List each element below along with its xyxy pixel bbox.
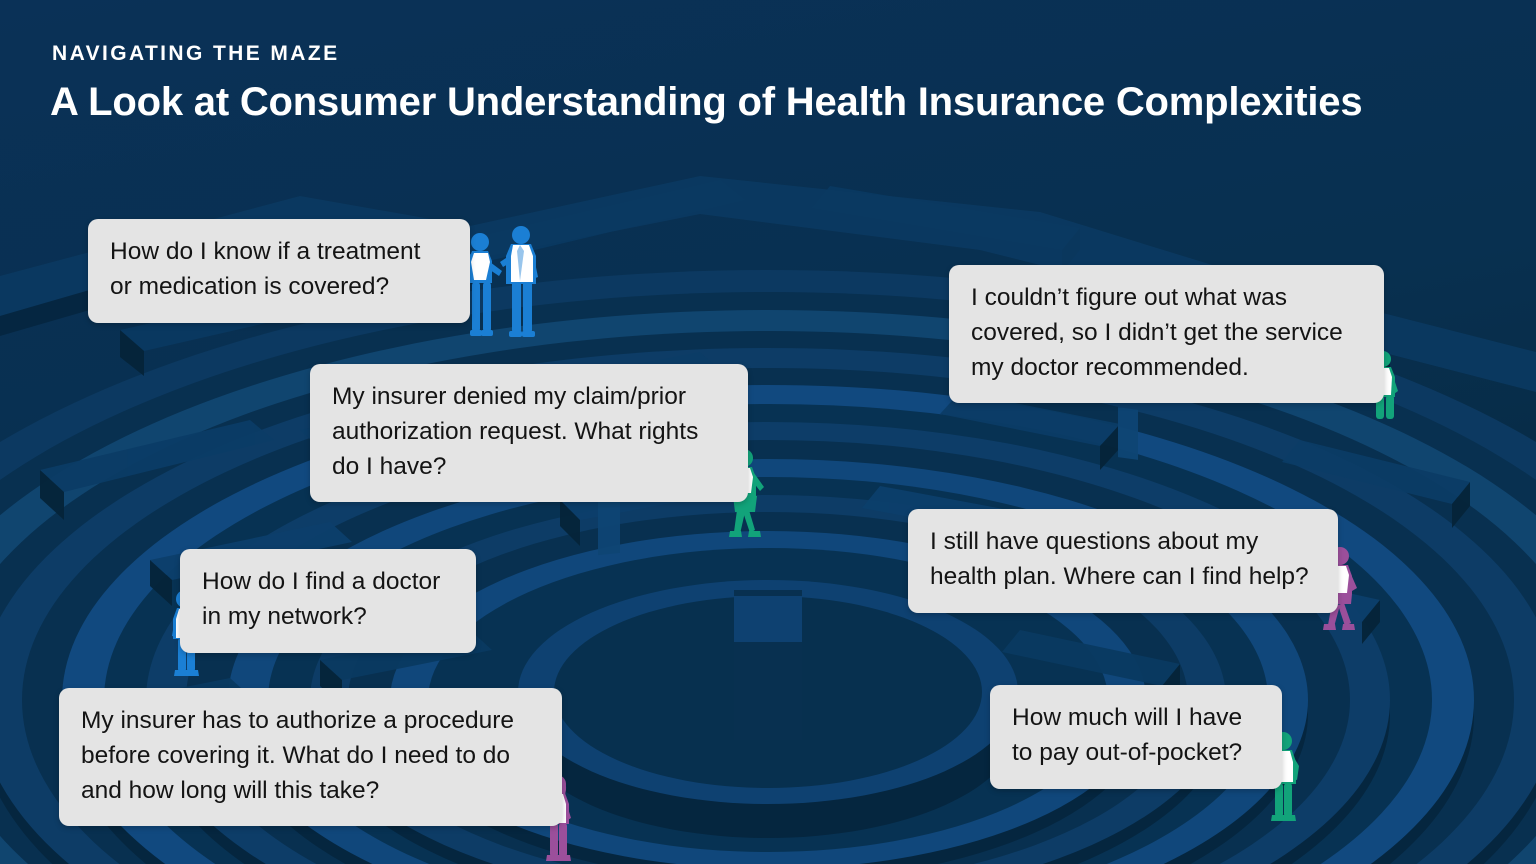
speech-bubble-out-of-pocket: How much will I have to pay out-of-pocke…	[990, 685, 1282, 789]
speech-bubble-find-doctor: How do I find a doctor in my network?	[180, 549, 476, 653]
figure-doctor-blue	[495, 223, 545, 341]
speech-bubble-claim-denied: My insurer denied my claim/prior authori…	[310, 364, 748, 502]
page-title: A Look at Consumer Understanding of Heal…	[50, 80, 1362, 125]
infographic-canvas: NAVIGATING THE MAZE A Look at Consumer U…	[0, 0, 1536, 864]
eyebrow-label: NAVIGATING THE MAZE	[52, 42, 339, 66]
speech-bubble-still-have-questions: I still have questions about my health p…	[908, 509, 1338, 613]
speech-bubble-treatment-covered: How do I know if a treatment or medicati…	[88, 219, 470, 323]
speech-bubble-prior-authorization: My insurer has to authorize a procedure …	[59, 688, 562, 826]
speech-bubble-couldnt-figure-out: I couldn’t figure out what was covered, …	[949, 265, 1384, 403]
